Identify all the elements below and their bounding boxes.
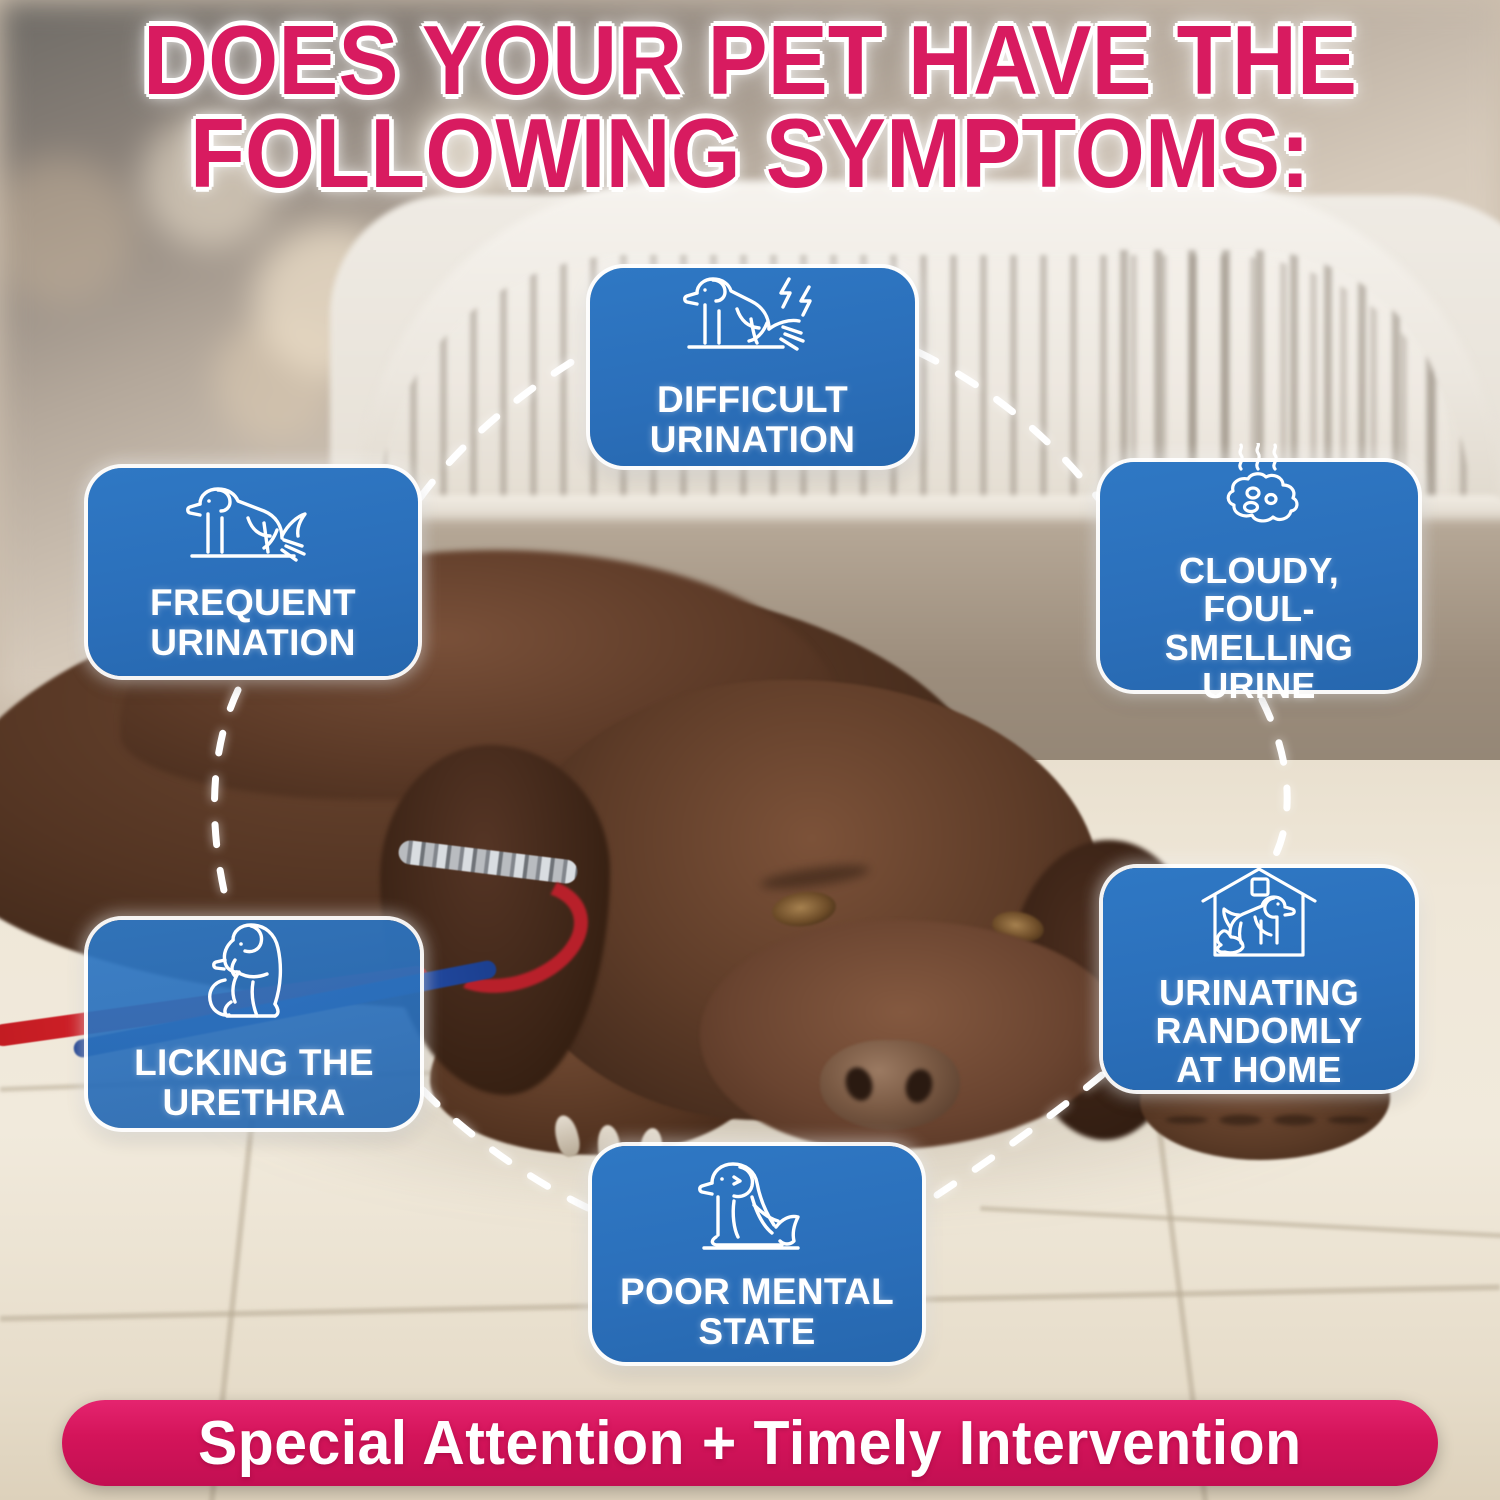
sad-sitting-dog-icon: [694, 1153, 820, 1264]
infographic-poster: DOES YOUR PET HAVE THE FOLLOWING SYMPTOM…: [0, 0, 1500, 1500]
symptom-card-label: FREQUENT URINATION: [150, 583, 356, 661]
smelly-urine-puddle-icon: [1203, 443, 1315, 544]
bottom-cta-text: Special Attention + Timely Intervention: [198, 1408, 1301, 1479]
symptom-card-label: CLOUDY, FOUL-SMELLING URINE: [1110, 552, 1408, 705]
page-title: DOES YOUR PET HAVE THE FOLLOWING SYMPTOM…: [60, 14, 1440, 200]
dog-toes: [1155, 1085, 1380, 1155]
symptom-card-poor-mental-state[interactable]: POOR MENTAL STATE: [592, 1146, 922, 1362]
symptom-card-urinating-randomly-at-home[interactable]: URINATING RANDOMLY AT HOME: [1103, 868, 1415, 1090]
dog-licking-itself-icon: [195, 922, 313, 1035]
symptom-card-label: URINATING RANDOMLY AT HOME: [1155, 974, 1362, 1088]
bottom-cta-banner[interactable]: Special Attention + Timely Intervention: [62, 1400, 1438, 1486]
symptom-card-licking-the-urethra[interactable]: LICKING THE URETHRA: [88, 920, 420, 1128]
symptom-card-difficult-urination[interactable]: DIFFICULT URINATION: [590, 268, 915, 466]
symptom-card-cloudy-foul-smelling-urine[interactable]: CLOUDY, FOUL-SMELLING URINE: [1100, 462, 1418, 690]
symptom-card-label: LICKING THE URETHRA: [134, 1043, 374, 1121]
dog-peeing-in-house-icon: [1195, 865, 1323, 966]
symptom-card-label: DIFFICULT URINATION: [650, 380, 856, 458]
dog-nose: [820, 1040, 960, 1130]
symptom-card-label: POOR MENTAL STATE: [620, 1272, 894, 1350]
headline-line-2: FOLLOWING SYMPTOMS:: [60, 107, 1440, 200]
dog-urinating-standing-icon: [178, 478, 328, 575]
dog-straining-lightning-icon: [677, 271, 829, 372]
symptom-card-frequent-urination[interactable]: FREQUENT URINATION: [88, 468, 418, 676]
